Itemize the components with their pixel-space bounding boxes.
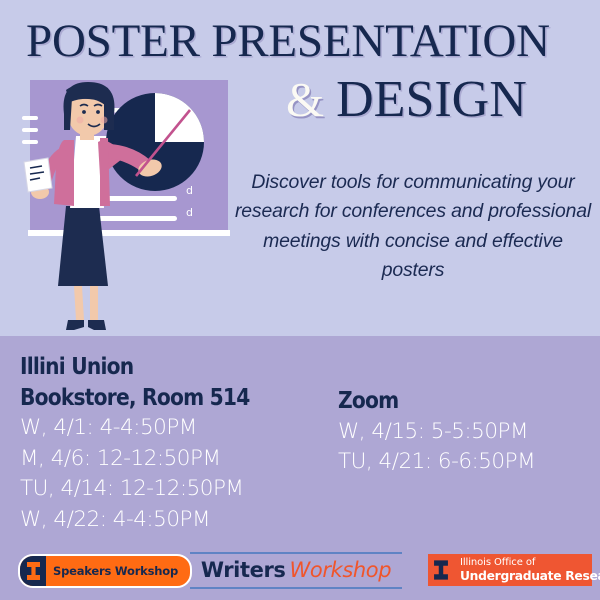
ampersand-mark: & <box>286 72 324 127</box>
illinois-block-i-icon <box>20 556 46 586</box>
session-time: M, 4/6: 12-12:50PM <box>20 444 340 475</box>
writers-workshop-logo[interactable]: WritersWorkshop <box>190 552 402 589</box>
poster-title-line1: POSTER PRESENTATION <box>26 18 586 65</box>
session-time: TU, 4/21: 6-6:50PM <box>338 447 600 478</box>
svg-text:p: p <box>186 207 193 220</box>
pie-chart-icon <box>106 93 204 191</box>
location-heading-line1: Illini Union <box>20 352 302 383</box>
undergraduate-research-logo[interactable]: Illinois Office of Undergraduate Researc… <box>428 554 592 586</box>
session-group-illini-union: Illini Union Bookstore, Room 514 W, 4/1:… <box>20 352 340 535</box>
svg-text:p: p <box>186 185 193 198</box>
session-group-zoom: Zoom W, 4/15: 5-5:50PM TU, 4/21: 6-6:50P… <box>338 386 600 478</box>
session-time: W, 4/22: 4-4:50PM <box>20 505 340 536</box>
poster-title-line2-row: &DESIGN <box>286 74 596 126</box>
undergraduate-research-text: Illinois Office of Undergraduate Researc… <box>454 557 600 583</box>
poster-canvas: p p <box>0 0 600 600</box>
paper-icon <box>24 158 52 192</box>
office-line: Illinois Office of <box>460 557 600 569</box>
presenter-illustration: p p <box>22 80 232 336</box>
location-heading-line1: Zoom <box>338 386 569 417</box>
speakers-workshop-logo[interactable]: Speakers Workshop <box>18 554 192 588</box>
workshop-word: Workshop <box>290 558 392 582</box>
poster-description: Discover tools for communicating your re… <box>232 168 594 286</box>
speakers-workshop-label: Speakers Workshop <box>46 556 190 586</box>
department-line: Undergraduate Research <box>460 569 600 584</box>
location-heading-line2: Bookstore, Room 514 <box>20 383 302 414</box>
session-time: W, 4/1: 4-4:50PM <box>20 413 340 444</box>
poster-title-design: DESIGN <box>336 71 527 128</box>
footer-logo-bar: Speakers Workshop WritersWorkshop Illino… <box>0 552 600 596</box>
illinois-block-i-icon <box>428 554 454 586</box>
session-listings: Illini Union Bookstore, Room 514 W, 4/1:… <box>0 352 600 542</box>
writers-word: Writers <box>201 558 286 582</box>
session-time: TU, 4/14: 12-12:50PM <box>20 474 340 505</box>
session-time: W, 4/15: 5-5:50PM <box>338 417 600 448</box>
